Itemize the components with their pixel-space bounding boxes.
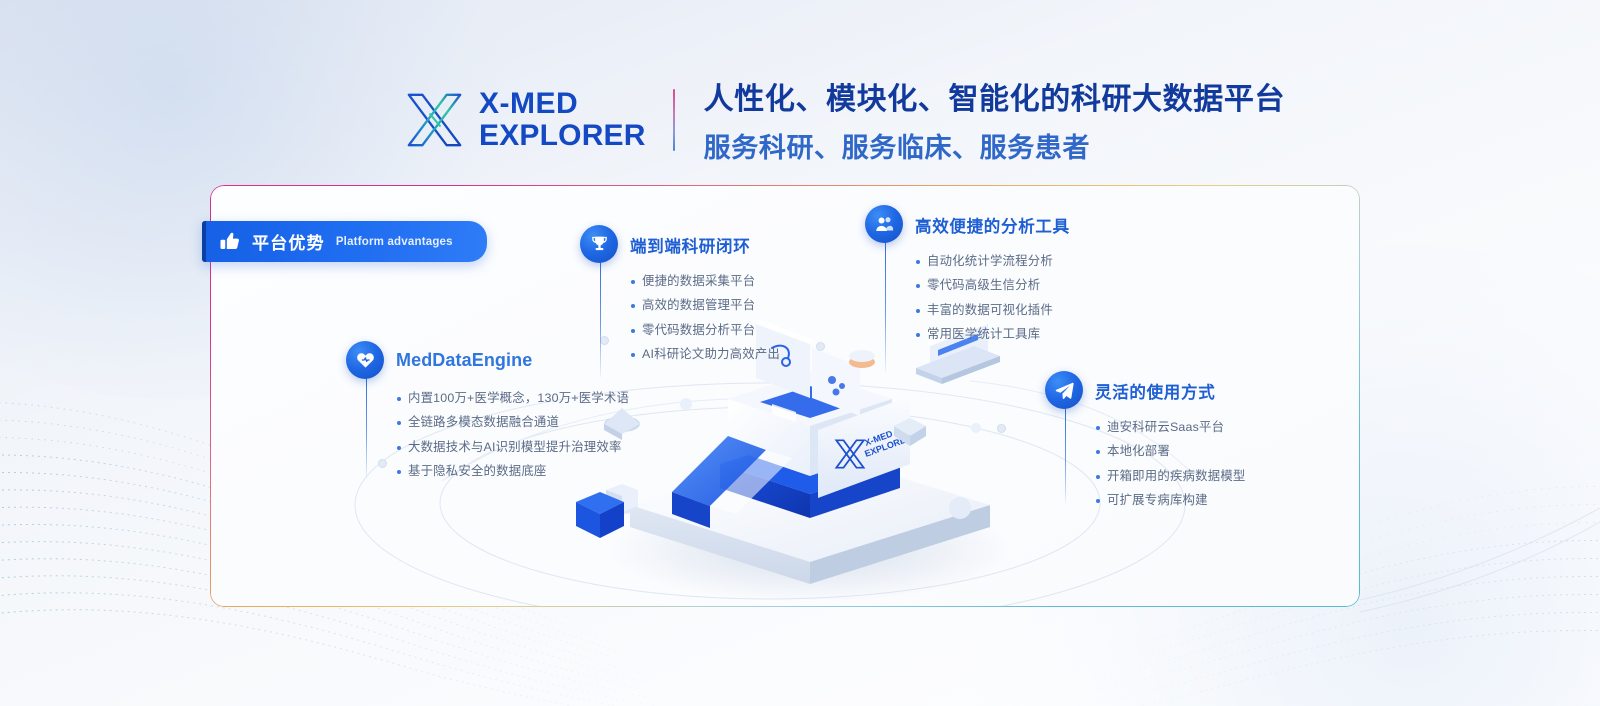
list-item: 零代码数据分析平台 — [631, 324, 780, 336]
connector-stem-flexible-usage — [1065, 408, 1066, 503]
bullet-dot — [916, 309, 920, 313]
bullet-dot — [1096, 499, 1100, 503]
list-item: 开箱即用的疾病数据模型 — [1096, 470, 1246, 482]
bullet-dot — [397, 470, 401, 474]
list-item: 自动化统计学流程分析 — [916, 255, 1070, 267]
list-item-text: 基于隐私安全的数据底座 — [408, 465, 547, 477]
banner-stage: X-MED EXPLORER 人性化、模块化、智能化的科研大数据平台 服务科研、… — [0, 0, 1600, 706]
list-item-text: 零代码高级生信分析 — [927, 279, 1040, 291]
list-item: 常用医学统计工具库 — [916, 328, 1070, 340]
badge-label-en: Platform advantages — [336, 236, 453, 248]
feature-title-flexible-usage: 灵活的使用方式 — [1095, 379, 1215, 403]
header-divider — [673, 89, 675, 151]
platform-advantages-badge[interactable]: 平台优势 Platform advantages — [202, 221, 487, 262]
feature-list-med-data-engine: 内置100万+医学概念，130万+医学术语 全链路多模态数据融合通道 大数据技术… — [397, 392, 629, 478]
list-item-text: 全链路多模态数据融合通道 — [408, 416, 559, 428]
trophy-icon — [580, 225, 618, 263]
list-item: AI科研论文助力高效产出 — [631, 348, 780, 360]
list-item-text: 迪安科研云Saas平台 — [1107, 421, 1224, 433]
list-item: 可扩展专病库构建 — [1096, 494, 1246, 506]
list-item: 内置100万+医学概念，130万+医学术语 — [397, 392, 629, 404]
feature-list-analysis-tools: 自动化统计学流程分析 零代码高级生信分析 丰富的数据可视化插件 常用医学统计工具… — [916, 255, 1070, 341]
bullet-dot — [631, 353, 635, 357]
list-item-text: AI科研论文助力高效产出 — [642, 348, 780, 360]
users-icon — [865, 205, 903, 243]
feature-title-med-data-engine: MedDataEngine — [396, 350, 532, 371]
badge-label-cn: 平台优势 — [252, 229, 325, 254]
feature-med-data-engine: MedDataEngine 内置100万+医学概念，130万+医学术语 全链路多… — [346, 341, 629, 490]
logo-text-line2: EXPLORER — [479, 120, 646, 151]
x-logo-icon — [404, 89, 466, 151]
list-item: 基于隐私安全的数据底座 — [397, 465, 629, 477]
list-item-text: 高效的数据管理平台 — [642, 299, 755, 311]
bullet-dot — [916, 284, 920, 288]
feature-title-analysis-tools: 高效便捷的分析工具 — [915, 213, 1070, 237]
bullet-dot — [1096, 450, 1100, 454]
feature-flexible-usage: 灵活的使用方式 迪安科研云Saas平台 本地化部署 开箱即用的疾病数据模型 可扩… — [1045, 371, 1246, 519]
paper-plane-icon — [1045, 371, 1083, 409]
brand-logo[interactable]: X-MED EXPLORER — [404, 88, 646, 150]
bullet-dot — [1096, 475, 1100, 479]
list-item-text: 大数据技术与AI识别模型提升治理效率 — [408, 441, 622, 453]
bullet-dot — [397, 446, 401, 450]
page-title: 人性化、模块化、智能化的科研大数据平台 — [704, 74, 1285, 118]
list-item-text: 零代码数据分析平台 — [642, 324, 755, 336]
bullet-dot — [397, 421, 401, 425]
bullet-dot — [631, 280, 635, 284]
feature-title-end-to-end: 端到端科研闭环 — [630, 233, 750, 257]
heart-pulse-icon — [346, 341, 384, 379]
feature-list-flexible-usage: 迪安科研云Saas平台 本地化部署 开箱即用的疾病数据模型 可扩展专病库构建 — [1096, 421, 1246, 507]
thumbs-up-icon — [218, 230, 241, 253]
bullet-dot — [916, 333, 920, 337]
list-item-text: 可扩展专病库构建 — [1107, 494, 1208, 506]
list-item-text: 自动化统计学流程分析 — [927, 255, 1053, 267]
list-item: 迪安科研云Saas平台 — [1096, 421, 1246, 433]
list-item-text: 丰富的数据可视化插件 — [927, 304, 1053, 316]
stem-node-tools — [816, 342, 825, 351]
logo-text-line1: X-MED — [479, 88, 646, 119]
bullet-dot — [916, 260, 920, 264]
feature-analysis-tools: 高效便捷的分析工具 自动化统计学流程分析 零代码高级生信分析 丰富的数据可视化插… — [865, 205, 1070, 353]
connector-stem-end-to-end — [600, 262, 601, 377]
list-item-text: 本地化部署 — [1107, 445, 1170, 457]
list-item: 零代码高级生信分析 — [916, 279, 1070, 291]
list-item: 大数据技术与AI识别模型提升治理效率 — [397, 441, 629, 453]
feature-list-end-to-end: 便捷的数据采集平台 高效的数据管理平台 零代码数据分析平台 AI科研论文助力高效… — [631, 275, 780, 361]
bullet-dot — [1096, 426, 1100, 430]
bullet-dot — [397, 397, 401, 401]
list-item: 丰富的数据可视化插件 — [916, 304, 1070, 316]
list-item-text: 内置100万+医学概念，130万+医学术语 — [408, 392, 629, 404]
list-item: 本地化部署 — [1096, 445, 1246, 457]
bullet-dot — [631, 329, 635, 333]
banner-header: X-MED EXPLORER 人性化、模块化、智能化的科研大数据平台 服务科研、… — [404, 74, 1285, 165]
list-item-text: 常用医学统计工具库 — [927, 328, 1040, 340]
connector-stem-analysis-tools — [885, 242, 886, 372]
connector-stem-med-data-engine — [366, 378, 367, 478]
list-item: 便捷的数据采集平台 — [631, 275, 780, 287]
stem-node-flex — [997, 424, 1006, 433]
list-item: 全链路多模态数据融合通道 — [397, 416, 629, 428]
list-item: 高效的数据管理平台 — [631, 299, 780, 311]
bullet-dot — [631, 304, 635, 308]
page-subtitle: 服务科研、服务临床、服务患者 — [704, 126, 1285, 165]
list-item-text: 便捷的数据采集平台 — [642, 275, 755, 287]
list-item-text: 开箱即用的疾病数据模型 — [1107, 470, 1246, 482]
